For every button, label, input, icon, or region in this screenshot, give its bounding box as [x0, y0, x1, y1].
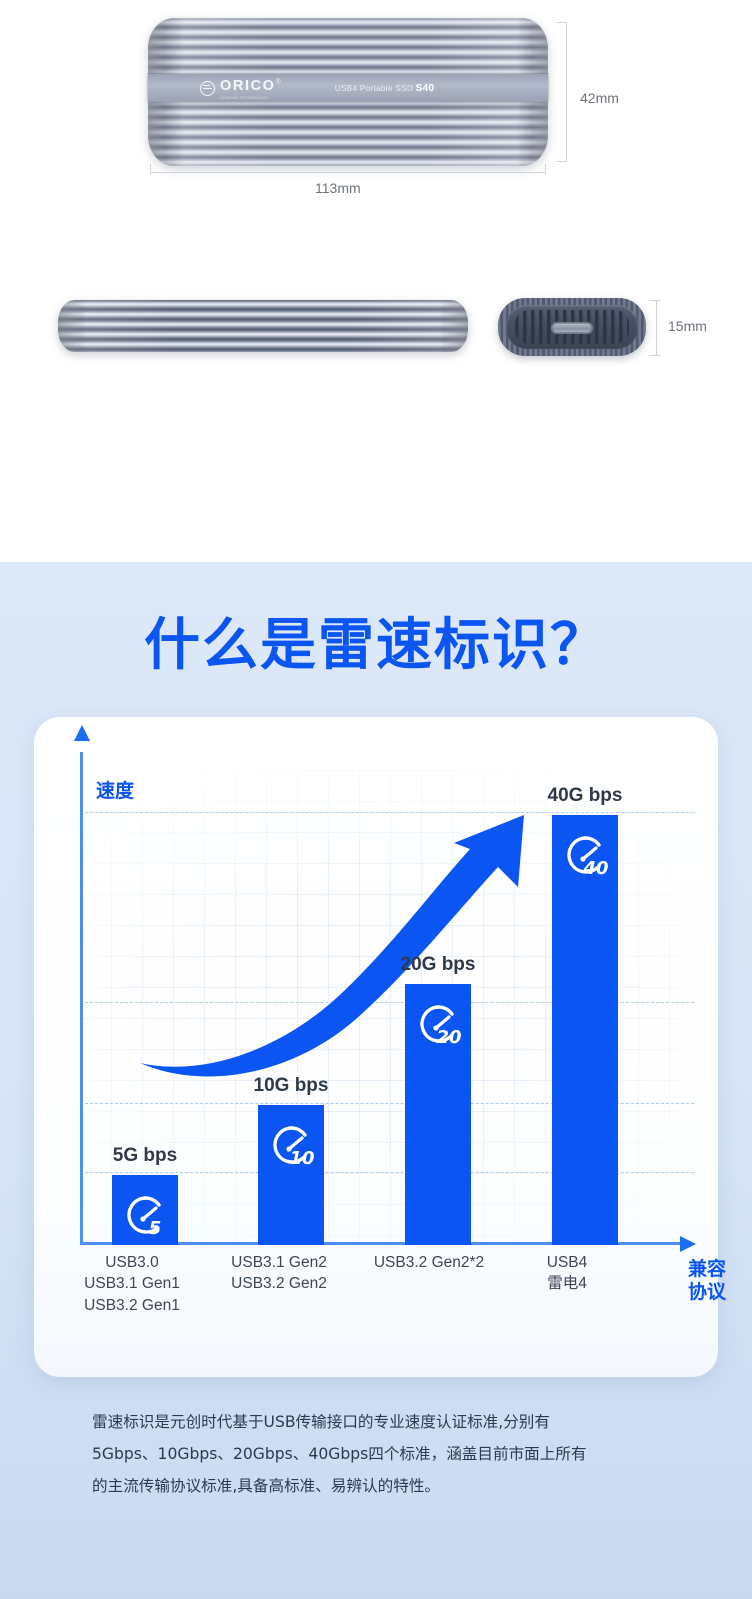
device-end-face	[506, 305, 638, 349]
y-axis	[80, 752, 83, 1245]
category-label-usb4: USB4 雷电4	[512, 1252, 622, 1295]
brand-tagline: LEADING TECHNOLOGY	[220, 96, 281, 100]
device-end-view	[498, 298, 646, 356]
usb-c-port-icon	[551, 322, 593, 334]
width-guide-tick-right	[545, 164, 546, 175]
model-prefix: USB4 Portable SSD	[335, 84, 416, 93]
category-label-usb32gen2x2: USB3.2 Gen2*2	[339, 1252, 519, 1273]
bar-value-label: 20G bps	[401, 954, 476, 976]
badge-number: 40	[582, 858, 608, 879]
model-name: S40	[416, 83, 435, 94]
category-line: USB3.1 Gen1	[52, 1273, 212, 1294]
brand-name: ORICO	[220, 78, 276, 94]
badge-number: 20	[436, 1027, 461, 1048]
device-front-view: ORICO® LEADING TECHNOLOGY USB4 Portable …	[148, 18, 548, 166]
brand-lockup: ORICO® LEADING TECHNOLOGY	[200, 77, 281, 100]
height-guide-tick-bottom	[556, 161, 567, 162]
category-line: USB3.2 Gen2	[199, 1273, 359, 1294]
width-guide-tick-left	[150, 164, 151, 175]
x-axis-title: 兼容协议	[688, 1258, 748, 1303]
category-label-usb31gen2: USB3.1 Gen2 USB3.2 Gen2	[199, 1252, 359, 1295]
model-label: USB4 Portable SSD S40	[335, 83, 435, 94]
badge-number: 10	[289, 1148, 314, 1169]
depth-guide-tick-top	[650, 300, 661, 301]
width-dimension-label: 113mm	[315, 180, 361, 196]
height-guide-line	[566, 22, 567, 162]
device-label-band: ORICO® LEADING TECHNOLOGY USB4 Portable …	[148, 74, 548, 102]
speed-description: 雷速标识是元创时代基于USB传输接口的专业速度认证标准,分别有 5Gbps、10…	[92, 1407, 672, 1503]
product-dimension-section: ORICO® LEADING TECHNOLOGY USB4 Portable …	[0, 0, 752, 562]
speed-badge-40-icon: 40	[559, 829, 611, 881]
speed-badge-20-icon: 20	[412, 998, 464, 1050]
description-line-1: 雷速标识是元创时代基于USB传输接口的专业速度认证标准,分别有	[92, 1407, 672, 1439]
category-line: USB4	[512, 1252, 622, 1273]
bar-usb32gen2x2: 20G bps 20	[405, 984, 471, 1245]
depth-guide-line	[656, 300, 657, 356]
speed-badge-5-icon: 5	[119, 1189, 171, 1241]
y-axis-arrow-icon	[74, 725, 90, 741]
category-label-usb30: USB3.0 USB3.1 Gen1 USB3.2 Gen1	[52, 1252, 212, 1316]
bar-value-label: 10G bps	[254, 1075, 329, 1097]
speed-standard-section: 什么是雷速标识？ 速度 兼容协议 5G bps	[0, 562, 752, 1599]
category-line: USB3.2 Gen1	[52, 1295, 212, 1316]
bar-usb31gen2: 10G bps 10	[258, 1105, 324, 1245]
speed-chart-card: 速度 兼容协议 5G bps 5	[34, 717, 718, 1377]
section-heading: 什么是雷速标识？	[0, 600, 752, 681]
description-line-2: 5Gbps、10Gbps、20Gbps、40Gbps四个标准，涵盖目前市面上所有	[92, 1439, 672, 1471]
bar-chart-plot-area: 速度 兼容协议 5G bps 5	[80, 770, 680, 1245]
brand-registered-mark: ®	[276, 78, 281, 85]
orico-logo-icon	[200, 81, 215, 96]
gridline	[80, 812, 694, 813]
badge-number: 5	[149, 1218, 162, 1239]
width-guide-line	[150, 172, 546, 173]
x-axis-arrow-icon	[680, 1236, 696, 1252]
y-axis-title: 速度	[96, 776, 134, 803]
speed-badge-10-icon: 10	[265, 1119, 317, 1171]
bar-value-label: 40G bps	[548, 785, 623, 807]
device-side-view	[58, 300, 468, 352]
brand-text-group: ORICO® LEADING TECHNOLOGY	[220, 77, 281, 100]
category-line: USB3.0	[52, 1252, 212, 1273]
height-dimension-label: 42mm	[580, 90, 619, 106]
category-line: USB3.1 Gen2	[199, 1252, 359, 1273]
height-guide-tick-top	[556, 22, 567, 23]
category-line: USB3.2 Gen2*2	[339, 1252, 519, 1273]
bar-usb4: 40G bps 40	[552, 815, 618, 1245]
bar-usb30: 5G bps 5	[112, 1175, 178, 1245]
description-line-3: 的主流传输协议标准,具备高标准、易辨认的特性。	[92, 1471, 672, 1503]
bar-value-label: 5G bps	[113, 1145, 177, 1167]
depth-dimension-label: 15mm	[668, 318, 707, 334]
depth-guide-tick-bottom	[650, 355, 661, 356]
category-line: 雷电4	[512, 1273, 622, 1294]
